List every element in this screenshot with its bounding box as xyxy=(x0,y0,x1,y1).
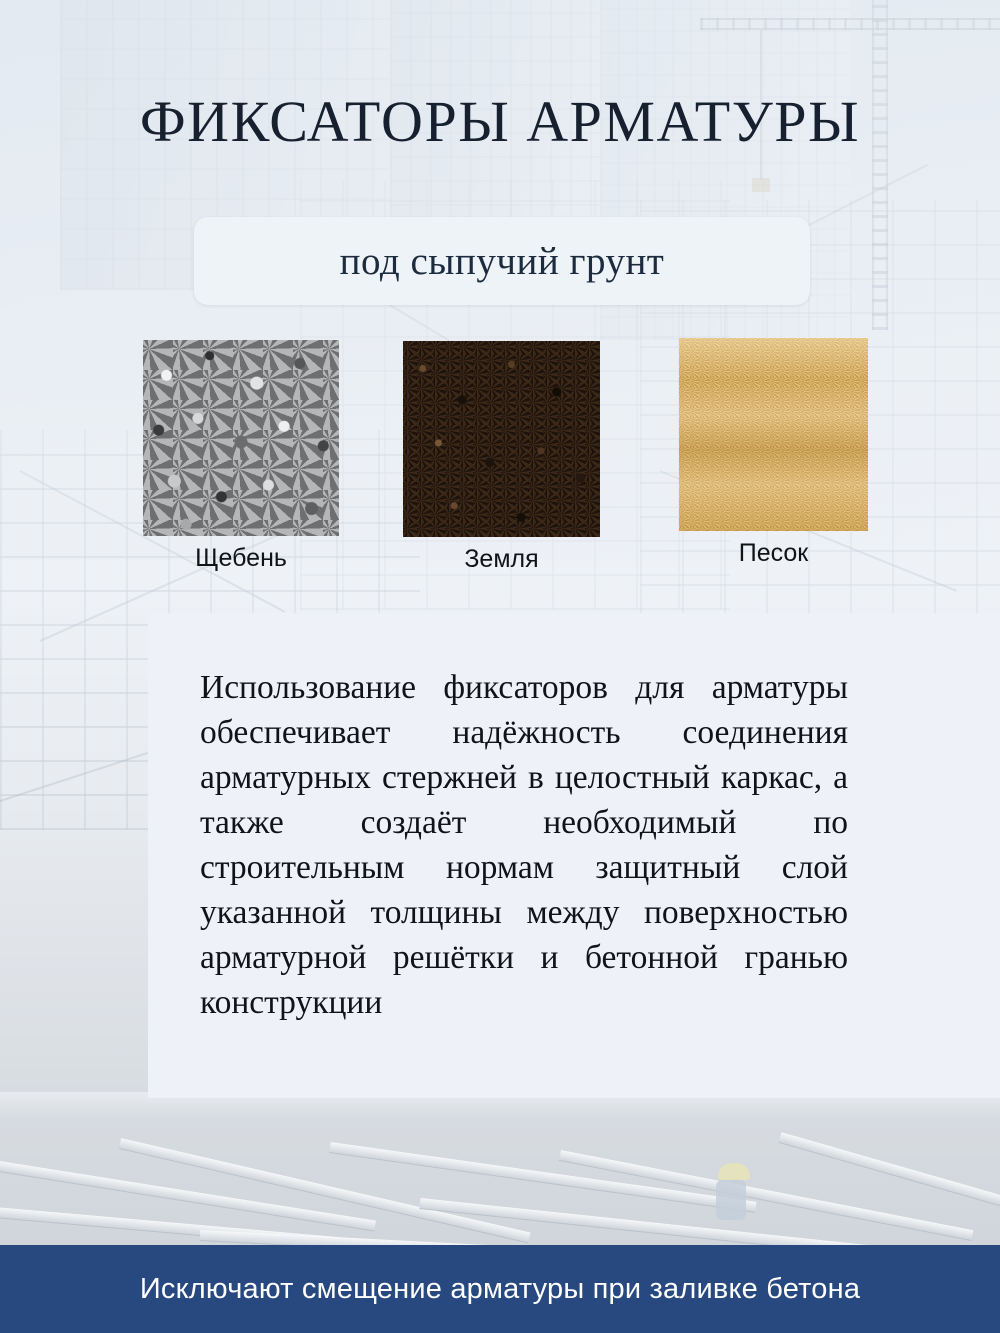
bottom-banner: Исключают смещение арматуры при заливке … xyxy=(0,1245,1000,1333)
subtitle-label: под сыпучий грунт xyxy=(340,239,665,284)
description-text: Использование фиксаторов для арматуры об… xyxy=(200,665,848,1025)
gravel-texture-icon xyxy=(143,340,339,536)
material-label-sand: Песок xyxy=(679,539,868,568)
material-label-gravel: Щебень xyxy=(143,544,339,573)
bottom-banner-text: Исключают смещение арматуры при заливке … xyxy=(140,1273,860,1306)
page-title: ФИКСАТОРЫ АРМАТУРЫ xyxy=(0,88,1000,155)
soil-texture-icon xyxy=(403,341,600,537)
material-swatch-gravel: Щебень xyxy=(143,340,339,536)
subtitle-badge: под сыпучий грунт xyxy=(194,217,810,305)
material-swatch-earth: Земля xyxy=(403,341,600,537)
sand-texture-icon xyxy=(679,338,868,531)
material-swatch-sand: Песок xyxy=(679,338,868,531)
material-label-earth: Земля xyxy=(403,545,600,574)
description-panel: Использование фиксаторов для арматуры об… xyxy=(148,613,1000,1098)
